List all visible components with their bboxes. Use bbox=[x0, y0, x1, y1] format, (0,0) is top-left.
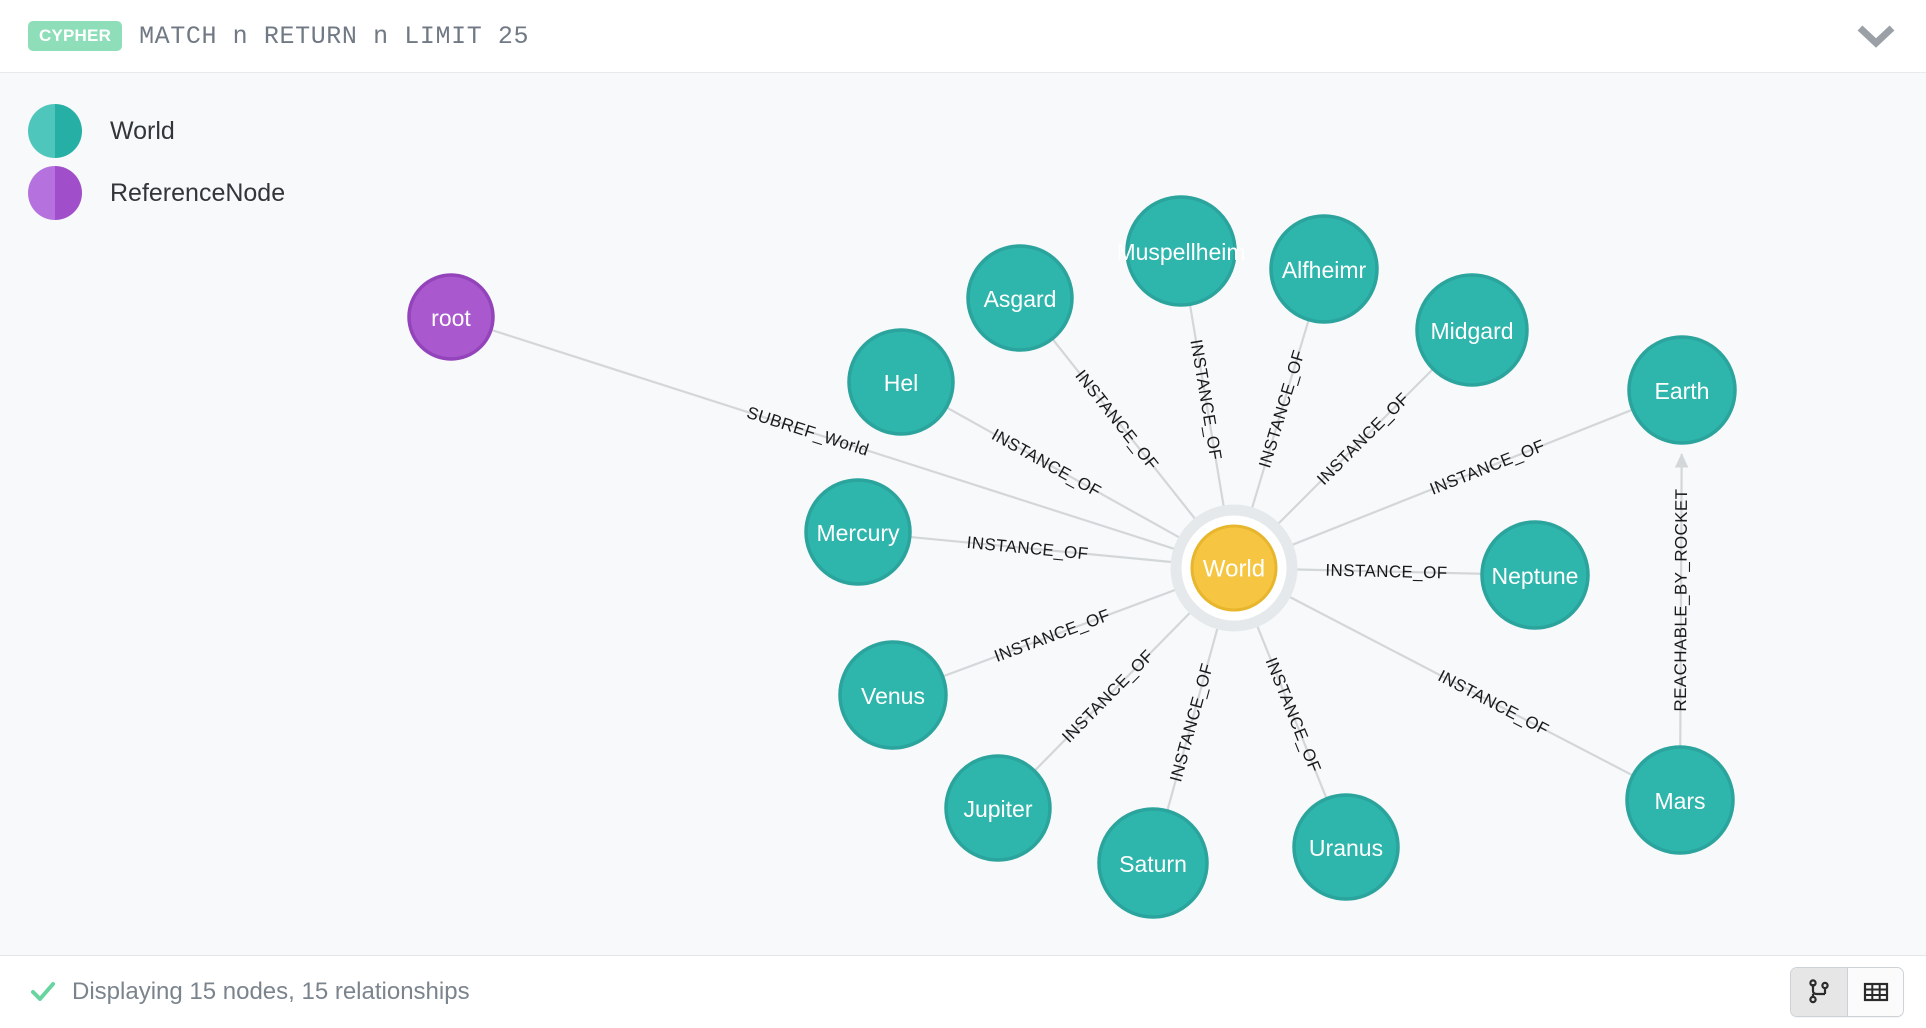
relationship-line[interactable] bbox=[1292, 569, 1481, 573]
graph-node-alfheimr[interactable]: Alfheimr bbox=[1271, 216, 1377, 322]
relationship-line[interactable] bbox=[1275, 370, 1432, 527]
graph-node-uranus[interactable]: Uranus bbox=[1294, 795, 1398, 899]
legend-swatch-left-half bbox=[28, 104, 55, 158]
relationship-line[interactable] bbox=[1251, 321, 1309, 513]
status-bar: Displaying 15 nodes, 15 relationships bbox=[0, 955, 1926, 1028]
graph-node-saturn[interactable]: Saturn bbox=[1099, 809, 1207, 917]
legend-item-world[interactable]: World bbox=[28, 100, 285, 162]
view-toggle-group bbox=[1790, 967, 1904, 1017]
node-circle[interactable] bbox=[806, 480, 910, 584]
node-circle[interactable] bbox=[1629, 337, 1735, 443]
legend-item-referencenode[interactable]: ReferenceNode bbox=[28, 162, 285, 224]
legend-label-world: World bbox=[110, 117, 175, 146]
node-circle[interactable] bbox=[1127, 197, 1235, 305]
status-text: Displaying 15 nodes, 15 relationships bbox=[72, 978, 470, 1006]
node-circle[interactable] bbox=[1099, 809, 1207, 917]
graph-node-world[interactable]: World bbox=[1176, 510, 1292, 626]
legend-swatch-right-half bbox=[55, 104, 82, 158]
relationship-line[interactable] bbox=[947, 408, 1183, 540]
node-circle[interactable] bbox=[1294, 795, 1398, 899]
node-circle[interactable] bbox=[968, 246, 1072, 350]
graph-node-midgard[interactable]: Midgard bbox=[1417, 275, 1527, 385]
query-text: MATCH n RETURN n LIMIT 25 bbox=[139, 22, 529, 51]
node-circle[interactable] bbox=[1482, 522, 1588, 628]
relationship-line[interactable] bbox=[1053, 340, 1198, 523]
legend-label-referencenode: ReferenceNode bbox=[110, 179, 285, 208]
relationship-line[interactable] bbox=[944, 588, 1180, 676]
graph-node-muspellheim[interactable]: Muspellheim bbox=[1116, 197, 1245, 305]
graph-node-mars[interactable]: Mars bbox=[1627, 747, 1733, 853]
graph-node-venus[interactable]: Venus bbox=[840, 642, 946, 748]
graph-node-root[interactable]: root bbox=[409, 275, 493, 359]
node-circle[interactable] bbox=[840, 642, 946, 748]
legend-swatch-left-half bbox=[28, 166, 55, 220]
graph-node-neptune[interactable]: Neptune bbox=[1482, 522, 1588, 628]
legend-swatch-referencenode bbox=[28, 166, 82, 220]
legend-swatch-right-half bbox=[55, 166, 82, 220]
node-circle[interactable] bbox=[409, 275, 493, 359]
check-icon bbox=[30, 979, 56, 1005]
nodes-layer: WorldrootHelAsgardMuspellheimAlfheimrMid… bbox=[409, 197, 1735, 917]
node-legend: World ReferenceNode bbox=[28, 100, 285, 224]
graph-node-mercury[interactable]: Mercury bbox=[806, 480, 910, 584]
node-circle[interactable] bbox=[1417, 275, 1527, 385]
node-circle[interactable] bbox=[1192, 526, 1276, 610]
query-header: CYPHER MATCH n RETURN n LIMIT 25 bbox=[0, 0, 1926, 73]
status-message: Displaying 15 nodes, 15 relationships bbox=[30, 978, 470, 1006]
graph-result-panel: CYPHER MATCH n RETURN n LIMIT 25 World bbox=[0, 0, 1926, 1028]
graph-node-asgard[interactable]: Asgard bbox=[968, 246, 1072, 350]
graph-node-hel[interactable]: Hel bbox=[849, 330, 953, 434]
node-circle[interactable] bbox=[1271, 216, 1377, 322]
graph-node-earth[interactable]: Earth bbox=[1629, 337, 1735, 443]
node-circle[interactable] bbox=[849, 330, 953, 434]
relationship-line[interactable] bbox=[911, 537, 1177, 562]
relationship-line[interactable] bbox=[1288, 410, 1632, 547]
relationship-line[interactable] bbox=[1256, 622, 1327, 798]
relationship-line[interactable] bbox=[1680, 454, 1681, 746]
node-circle[interactable] bbox=[1627, 747, 1733, 853]
relationship-line[interactable] bbox=[1285, 595, 1632, 775]
graph-view-button[interactable] bbox=[1791, 968, 1847, 1016]
relationship-line[interactable] bbox=[1190, 305, 1224, 511]
cypher-badge: CYPHER bbox=[28, 21, 122, 51]
table-view-button[interactable] bbox=[1847, 968, 1903, 1016]
graph-canvas[interactable]: World ReferenceNode SUBREF_WorldINSTANCE… bbox=[0, 73, 1926, 955]
legend-swatch-world bbox=[28, 104, 82, 158]
graph-visualization[interactable]: SUBREF_WorldINSTANCE_OFINSTANCE_OFINSTAN… bbox=[0, 73, 1926, 955]
chevron-down-icon[interactable] bbox=[1850, 10, 1902, 62]
graph-node-jupiter[interactable]: Jupiter bbox=[946, 756, 1050, 860]
relationship-line[interactable] bbox=[1168, 624, 1219, 810]
node-circle[interactable] bbox=[946, 756, 1050, 860]
